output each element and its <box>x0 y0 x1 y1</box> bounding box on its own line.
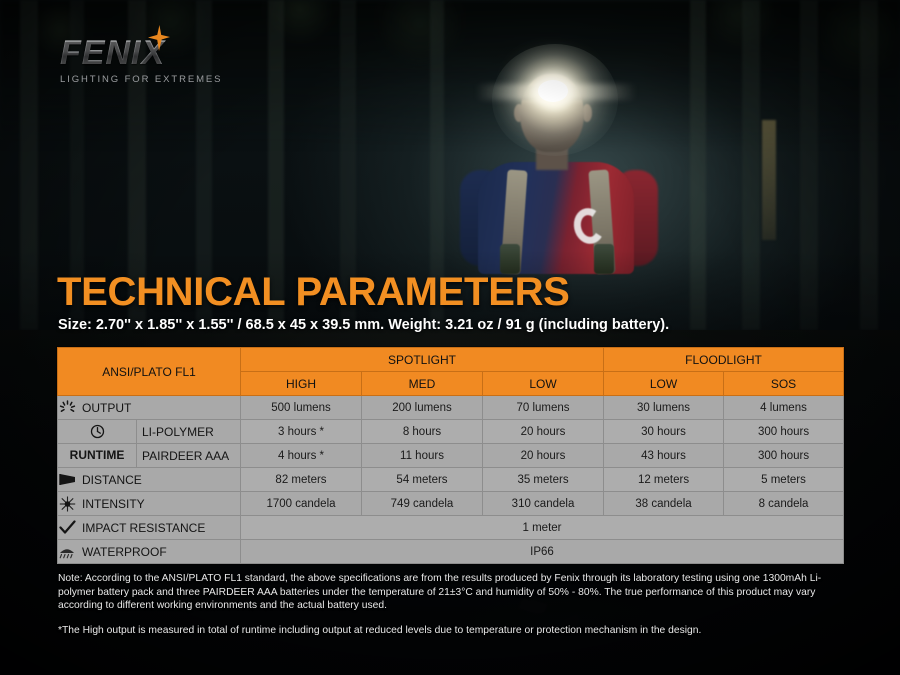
row-label-distance-text: DISTANCE <box>82 473 142 487</box>
cell-distance-spot-low: 35 meters <box>483 468 604 492</box>
row-label-output: OUTPUT <box>58 396 241 420</box>
cell-runtime-lipolymer-spot-med: 8 hours <box>362 420 483 444</box>
table-row-impact-resistance: IMPACT RESISTANCE 1 meter <box>58 516 844 540</box>
sunburst-icon <box>58 400 76 416</box>
cell-intensity-spot-high: 1700 candela <box>241 492 362 516</box>
table-row-runtime-pairdeer: RUNTIME PAIRDEER AAA 4 hours * 11 hours … <box>58 444 844 468</box>
cell-runtime-lipolymer-flood-sos: 300 hours <box>724 420 844 444</box>
cell-waterproof-value: IP66 <box>241 540 844 564</box>
spec-table-wrapper: ANSI/PLATO FL1 SPOTLIGHT FLOODLIGHT HIGH… <box>57 347 843 564</box>
cell-output-flood-low: 30 lumens <box>604 396 724 420</box>
row-label-runtime-word: RUNTIME PAIRDEER AAA <box>58 444 241 468</box>
row-label-intensity: INTENSITY <box>58 492 241 516</box>
footnote-ansi-standard: Note: According to the ANSI/PLATO FL1 st… <box>58 572 848 613</box>
fenix-logo[interactable]: FENIX LIGHTING FOR EXTREMES <box>60 36 222 85</box>
beam-icon <box>58 472 76 488</box>
row-label-output-text: OUTPUT <box>82 401 131 415</box>
table-row-intensity: INTENSITY 1700 candela 749 candela 310 c… <box>58 492 844 516</box>
row-label-runtime: LI-POLYMER <box>58 420 241 444</box>
clock-icon <box>88 423 106 441</box>
cell-output-spot-low: 70 lumens <box>483 396 604 420</box>
cell-runtime-pairdeer-spot-high: 4 hours * <box>241 444 362 468</box>
brand-wordmark: FENIX <box>60 36 222 70</box>
cell-intensity-flood-sos: 8 candela <box>724 492 844 516</box>
cell-runtime-lipolymer-spot-high: 3 hours * <box>241 420 362 444</box>
cell-intensity-spot-med: 749 candela <box>362 492 483 516</box>
size-weight-line: Size: 2.70'' x 1.85'' x 1.55'' / 68.5 x … <box>58 317 669 333</box>
technical-parameters-table: ANSI/PLATO FL1 SPOTLIGHT FLOODLIGHT HIGH… <box>57 347 844 564</box>
header-mode-spot-high: HIGH <box>241 372 362 396</box>
table-row-waterproof: WATERPROOF IP66 <box>58 540 844 564</box>
check-icon <box>58 520 76 536</box>
row-sublabel-pairdeer: PAIRDEER AAA <box>142 449 229 463</box>
header-mode-spot-med: MED <box>362 372 483 396</box>
cell-distance-spot-high: 82 meters <box>241 468 362 492</box>
cell-distance-flood-low: 12 meters <box>604 468 724 492</box>
cell-output-flood-sos: 4 lumens <box>724 396 844 420</box>
header-group-spotlight: SPOTLIGHT <box>241 348 604 372</box>
row-label-waterproof-text: WATERPROOF <box>82 545 167 559</box>
intensity-icon <box>58 496 76 512</box>
cell-runtime-lipolymer-spot-low: 20 hours <box>483 420 604 444</box>
row-label-impact-resistance: IMPACT RESISTANCE <box>58 516 241 540</box>
cell-impact-resistance-value: 1 meter <box>241 516 844 540</box>
cell-output-spot-high: 500 lumens <box>241 396 362 420</box>
header-mode-flood-sos: SOS <box>724 372 844 396</box>
table-row-output: OUTPUT 500 lumens 200 lumens 70 lumens 3… <box>58 396 844 420</box>
waterproof-icon <box>58 544 76 560</box>
table-row-runtime-lipolymer: LI-POLYMER 3 hours * 8 hours 20 hours 30… <box>58 420 844 444</box>
header-group-floodlight: FLOODLIGHT <box>604 348 844 372</box>
brand-tagline: LIGHTING FOR EXTREMES <box>60 74 222 85</box>
table-row-distance: DISTANCE 82 meters 54 meters 35 meters 1… <box>58 468 844 492</box>
cell-distance-flood-sos: 5 meters <box>724 468 844 492</box>
page-title: TECHNICAL PARAMETERS <box>57 272 570 312</box>
poster-page: FENIX LIGHTING FOR EXTREMES TECHNICAL PA… <box>0 0 900 675</box>
cell-intensity-spot-low: 310 candela <box>483 492 604 516</box>
row-label-waterproof: WATERPROOF <box>58 540 241 564</box>
row-label-runtime-text: RUNTIME <box>70 449 125 462</box>
cell-intensity-flood-low: 38 candela <box>604 492 724 516</box>
cell-output-spot-med: 200 lumens <box>362 396 483 420</box>
header-mode-spot-low: LOW <box>483 372 604 396</box>
row-sublabel-lipolymer: LI-POLYMER <box>142 425 214 439</box>
cell-runtime-lipolymer-flood-low: 30 hours <box>604 420 724 444</box>
footnote-high-output: *The High output is measured in total of… <box>58 624 848 638</box>
cell-runtime-pairdeer-flood-sos: 300 hours <box>724 444 844 468</box>
footnotes: Note: According to the ANSI/PLATO FL1 st… <box>58 572 848 637</box>
row-label-impact-text: IMPACT RESISTANCE <box>82 521 205 535</box>
row-label-intensity-text: INTENSITY <box>82 497 145 511</box>
cell-distance-spot-med: 54 meters <box>362 468 483 492</box>
header-ansi-plato: ANSI/PLATO FL1 <box>58 348 241 396</box>
header-mode-flood-low: LOW <box>604 372 724 396</box>
cell-runtime-pairdeer-spot-med: 11 hours <box>362 444 483 468</box>
cell-runtime-pairdeer-flood-low: 43 hours <box>604 444 724 468</box>
table-header-group-row: ANSI/PLATO FL1 SPOTLIGHT FLOODLIGHT <box>58 348 844 372</box>
row-label-distance: DISTANCE <box>58 468 241 492</box>
cell-runtime-pairdeer-spot-low: 20 hours <box>483 444 604 468</box>
